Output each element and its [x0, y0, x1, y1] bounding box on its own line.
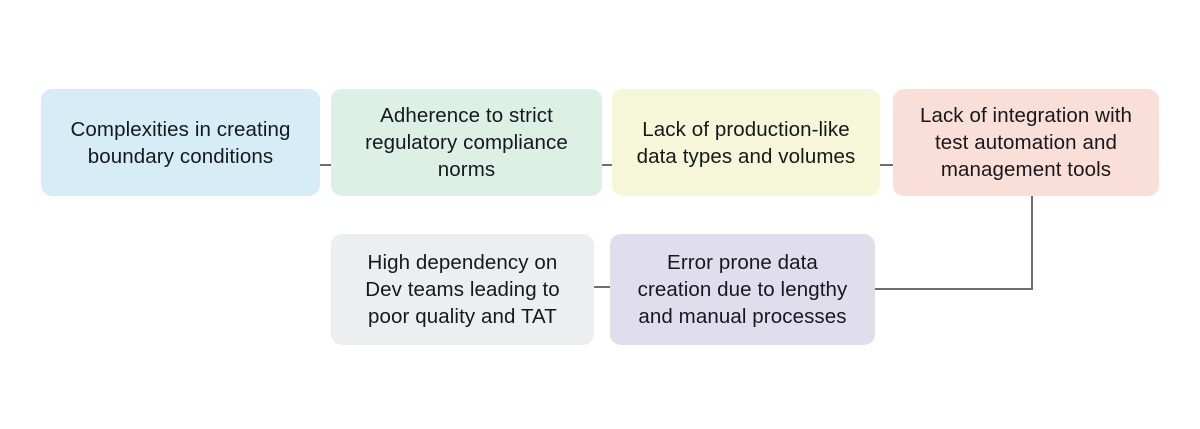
node-label: Adherence to strict regulatory complianc… — [365, 102, 568, 183]
node-label: Lack of production-like data types and v… — [637, 116, 856, 170]
node-label: Lack of integration with test automation… — [920, 102, 1132, 183]
node-error-prone-data-creation[interactable]: Error prone data creation due to lengthy… — [610, 234, 875, 345]
connector-4-to-6-elbow — [874, 195, 1033, 290]
node-label: Error prone data creation due to lengthy… — [638, 249, 848, 330]
node-high-dependency-dev-teams[interactable]: High dependency on Dev teams leading to … — [331, 234, 594, 345]
node-label: High dependency on Dev teams leading to … — [365, 249, 560, 330]
flow-diagram: Complexities in creating boundary condit… — [0, 0, 1200, 429]
node-label: Complexities in creating boundary condit… — [70, 116, 290, 170]
node-lack-of-integration[interactable]: Lack of integration with test automation… — [893, 89, 1159, 196]
node-complexities-boundary-conditions[interactable]: Complexities in creating boundary condit… — [41, 89, 320, 196]
node-production-like-data[interactable]: Lack of production-like data types and v… — [612, 89, 880, 196]
node-regulatory-compliance[interactable]: Adherence to strict regulatory complianc… — [331, 89, 602, 196]
